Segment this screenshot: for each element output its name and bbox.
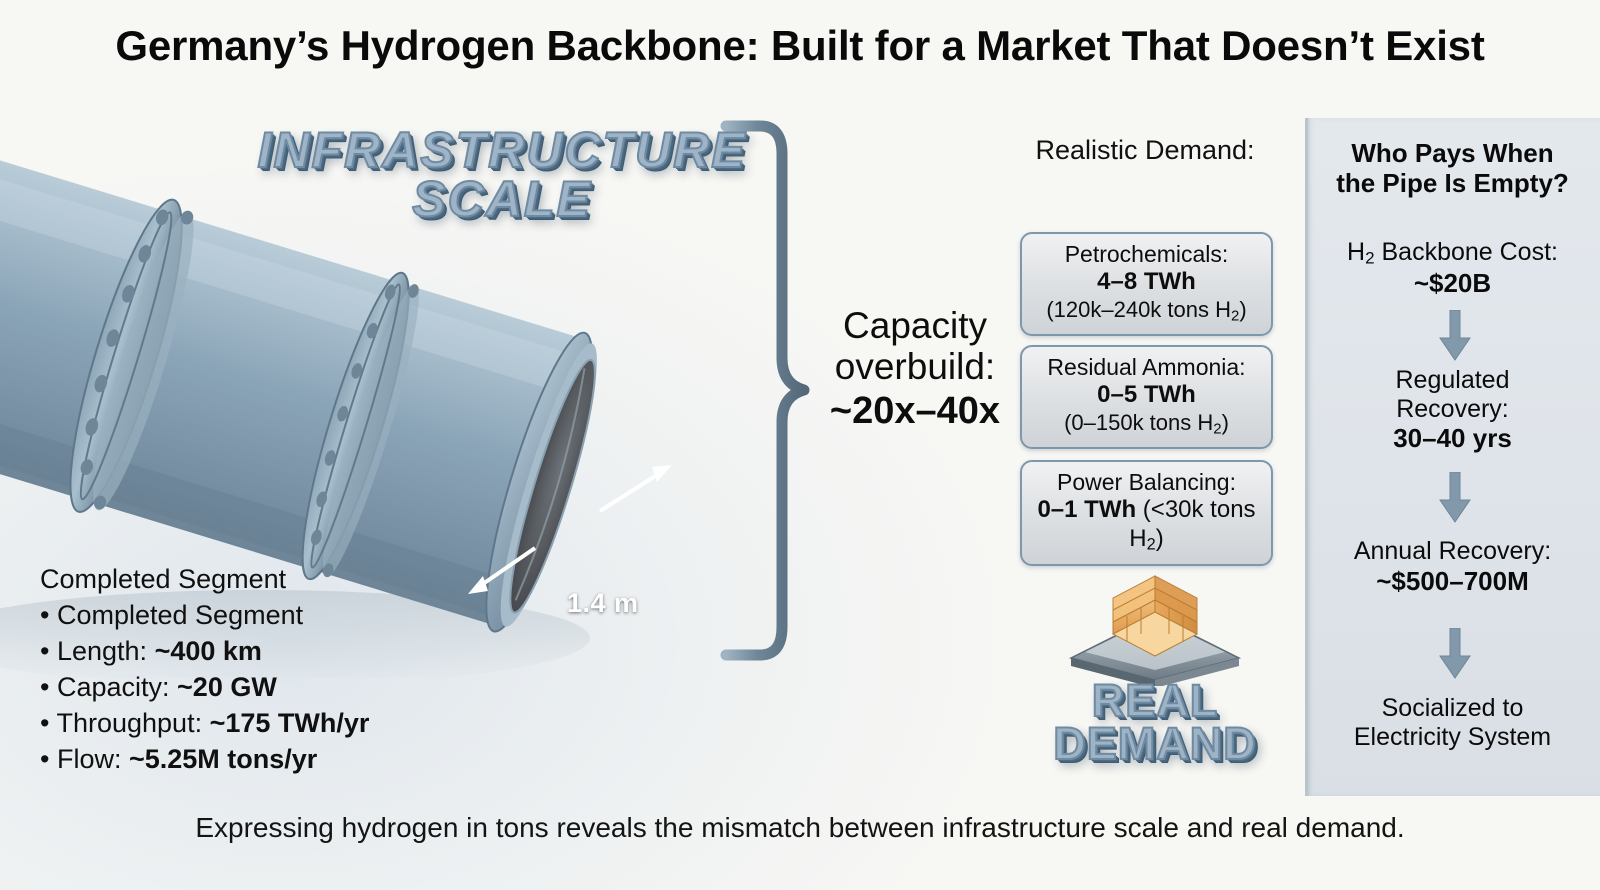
flow-node-regulated-recovery: Regulated Recovery: 30–40 yrs (1305, 366, 1600, 454)
who-pays-title: Who Pays When the Pipe Is Empty? (1305, 138, 1600, 198)
stat-label: Length: (57, 636, 155, 666)
completed-segment-stats: Completed Segment • Completed Segment • … (40, 562, 460, 777)
list-item: • Flow: ~5.25M tons/yr (40, 742, 460, 778)
overbuild-line2: overbuild: (835, 346, 995, 387)
page-title: Germany’s Hydrogen Backbone: Built for a… (0, 22, 1600, 70)
demand-box-energy: 0–5 TWh (1026, 381, 1267, 410)
demand-box-energy: 4–8 TWh (1026, 268, 1267, 297)
stats-heading: Completed Segment (40, 562, 460, 598)
demand-box-tons: (0–150k tons H2) (1026, 410, 1267, 438)
flow-node-socialized: Socialized to Electricity System (1305, 694, 1600, 751)
down-arrow-icon (1437, 472, 1473, 524)
who-pays-title-line2: the Pipe Is Empty? (1336, 168, 1569, 198)
flow-node-label-line1: Regulated (1305, 366, 1600, 395)
real-demand-line2: DEMAND (1010, 723, 1300, 766)
flow-node-value: ~$20B (1305, 268, 1600, 299)
demand-box-energy-and-tons: 0–1 TWh (<30k tons H2) (1026, 496, 1267, 555)
footer-caption: Expressing hydrogen in tons reveals the … (0, 812, 1600, 844)
flow-node-label-line1: Socialized to (1305, 694, 1600, 723)
infrastructure-scale-headline: INFRASTRUCTURE SCALE (252, 126, 752, 224)
infographic-canvas: Germany’s Hydrogen Backbone: Built for a… (0, 0, 1600, 890)
overbuild-value: ~20x–40x (800, 390, 1030, 433)
stat-label: Flow: (57, 744, 129, 774)
pipe-diameter-label: 1.4 m (567, 588, 639, 619)
bullet-icon: • (40, 636, 49, 666)
flow-node-label: H2 Backbone Cost: (1305, 238, 1600, 268)
flow-node-backbone-cost: H2 Backbone Cost: ~$20B (1305, 238, 1600, 299)
infrastructure-scale-line1: INFRASTRUCTURE (252, 126, 752, 175)
flow-node-label-line2: Recovery: (1305, 395, 1600, 424)
flow-node-value: ~$500–700M (1305, 566, 1600, 597)
list-item: • Throughput: ~175 TWh/yr (40, 706, 460, 742)
overbuild-line1: Capacity (843, 305, 987, 346)
real-demand-line1: REAL (1010, 680, 1300, 723)
demand-box-residual-ammonia: Residual Ammonia: 0–5 TWh (0–150k tons H… (1020, 345, 1273, 449)
list-item: • Capacity: ~20 GW (40, 670, 460, 706)
list-item: • Length: ~400 km (40, 634, 460, 670)
bullet-icon: • (40, 744, 49, 774)
demand-box-power-balancing: Power Balancing: 0–1 TWh (<30k tons H2) (1020, 460, 1273, 566)
stat-label: Throughput: (56, 708, 209, 738)
flow-node-value: 30–40 yrs (1305, 423, 1600, 454)
flow-node-label-line2: Electricity System (1305, 723, 1600, 752)
down-arrow-icon (1437, 310, 1473, 362)
bullet-icon: • (40, 708, 49, 738)
demand-box-name: Petrochemicals: (1026, 241, 1267, 268)
bullet-icon: • (40, 600, 49, 630)
realistic-demand-heading: Realistic Demand: (1000, 135, 1290, 166)
demand-box-petrochemicals: Petrochemicals: 4–8 TWh (120k–240k tons … (1020, 232, 1273, 336)
capacity-overbuild-callout: Capacity overbuild: ~20x–40x (800, 305, 1030, 432)
crates-on-pallet-icon (1055, 566, 1255, 686)
stat-value: ~175 TWh/yr (210, 708, 370, 738)
flow-node-annual-recovery: Annual Recovery: ~$500–700M (1305, 537, 1600, 596)
demand-box-tons: (120k–240k tons H2) (1026, 297, 1267, 325)
bullet-icon: • (40, 672, 49, 702)
stat-value: ~20 GW (177, 672, 277, 702)
flow-node-label: Annual Recovery: (1305, 537, 1600, 566)
infrastructure-scale-line2: SCALE (252, 175, 752, 224)
stat-label: Capacity: (57, 672, 177, 702)
who-pays-title-line1: Who Pays When (1351, 138, 1553, 168)
stat-value: ~5.25M tons/yr (129, 744, 317, 774)
list-item: • Completed Segment (40, 598, 460, 634)
real-demand-headline: REAL DEMAND (1010, 680, 1300, 766)
stat-label: Completed Segment (57, 600, 303, 630)
down-arrow-icon (1437, 628, 1473, 680)
demand-box-name: Residual Ammonia: (1026, 354, 1267, 381)
stat-value: ~400 km (155, 636, 262, 666)
demand-box-name: Power Balancing: (1026, 469, 1267, 496)
